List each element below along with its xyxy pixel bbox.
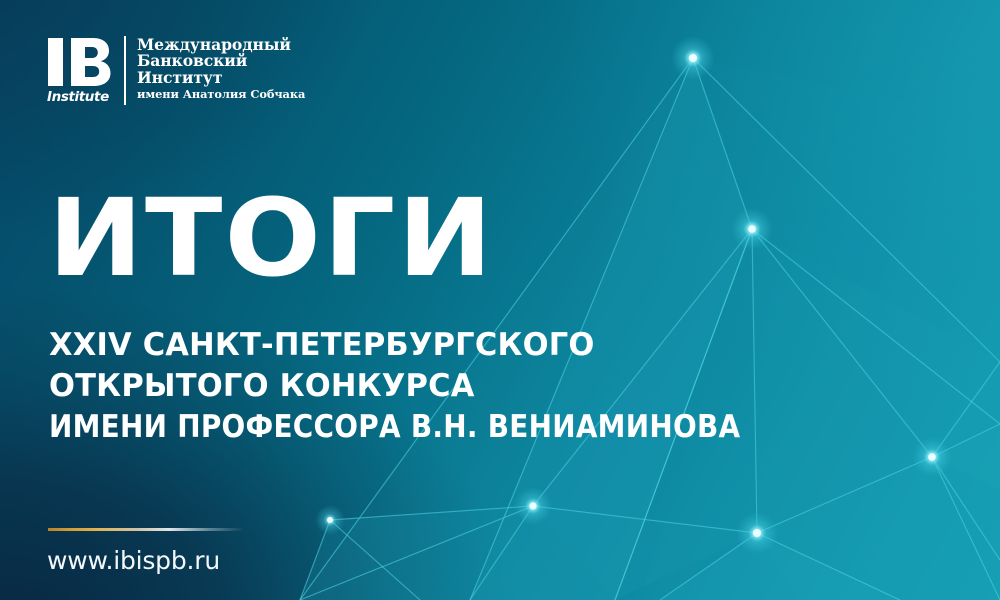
institute-name: Международный Банковский Институт имени … [137, 36, 305, 101]
website-url[interactable]: www.ibispb.ru [47, 546, 220, 576]
poster-canvas: Institute Международный Банковский Инсти… [0, 0, 1000, 600]
institute-logo[interactable]: Institute Международный Банковский Инсти… [47, 36, 305, 105]
ib-monogram-icon [47, 36, 113, 88]
logo-divider [124, 36, 126, 105]
footer-divider [48, 528, 244, 531]
page-subtitle: XXIV САНКТ-ПЕТЕРБУРГСКОГО ОТКРЫТОГО КОНК… [49, 325, 817, 448]
subtitle-line-3: ИМЕНИ ПРОФЕССОРА В.Н. ВЕНИАМИНОВА [49, 407, 740, 448]
poster-content: Institute Международный Банковский Инсти… [0, 0, 1000, 600]
institute-name-subline: имени Анатолия Собчака [137, 87, 305, 101]
subtitle-line-1: XXIV САНКТ-ПЕТЕРБУРГСКОГО [49, 325, 806, 366]
institute-name-line-3: Институт [137, 70, 305, 86]
logo-mark: Institute [47, 36, 124, 105]
subtitle-line-2: ОТКРЫТОГО КОНКУРСА [49, 366, 806, 407]
page-title: ИТОГИ [48, 186, 495, 293]
logo-institute-label: Institute [47, 91, 113, 105]
